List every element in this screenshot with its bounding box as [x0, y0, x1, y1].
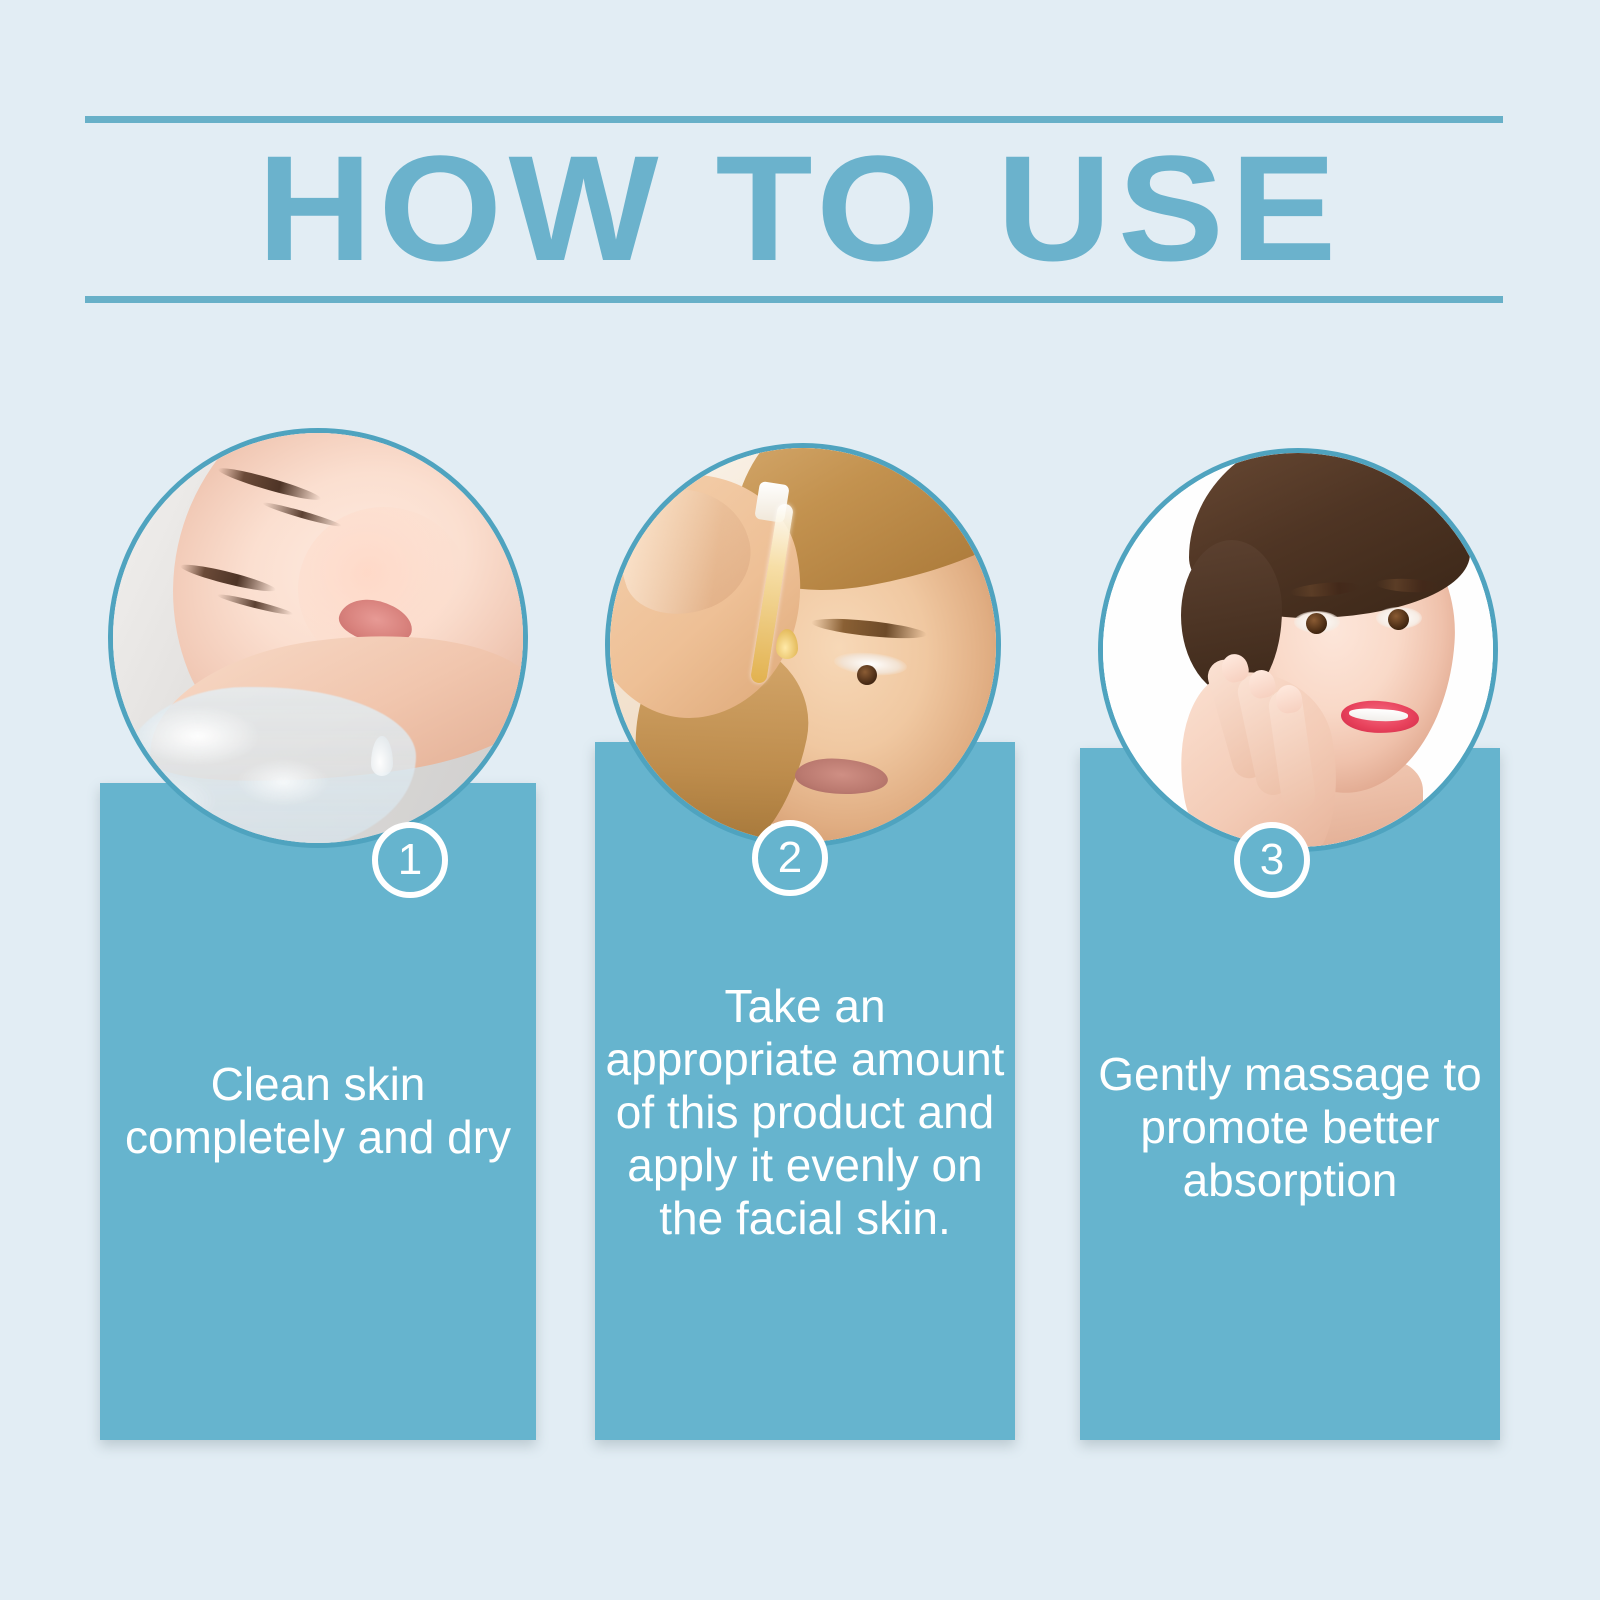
steps-row: 1 Clean skin completely and dry	[0, 0, 1600, 1600]
washing-face-image	[113, 433, 523, 843]
massaging-face-image	[1103, 453, 1493, 847]
pupil-left	[1306, 613, 1327, 634]
serum-droplet	[776, 629, 798, 659]
pupil-right	[1388, 609, 1409, 630]
step-number-badge-3: 3	[1234, 822, 1310, 898]
step-photo-3	[1098, 448, 1498, 852]
step-caption-3: Gently massage to promote better absorpt…	[1084, 1048, 1496, 1207]
step-number-label: 2	[778, 836, 802, 880]
step-photo-1	[108, 428, 528, 848]
step-number-badge-2: 2	[752, 820, 828, 896]
step-number-label: 1	[398, 838, 422, 882]
pupil-shape	[857, 665, 877, 685]
step-caption-2: Take an appropriate amount of this produ…	[605, 980, 1005, 1245]
step-photo-2	[605, 443, 1001, 847]
step-number-label: 3	[1260, 838, 1284, 882]
step-caption-1: Clean skin completely and dry	[118, 1058, 518, 1164]
step-number-badge-1: 1	[372, 822, 448, 898]
applying-serum-image	[610, 448, 996, 842]
how-to-use-infographic: HOW TO USE	[0, 0, 1600, 1600]
